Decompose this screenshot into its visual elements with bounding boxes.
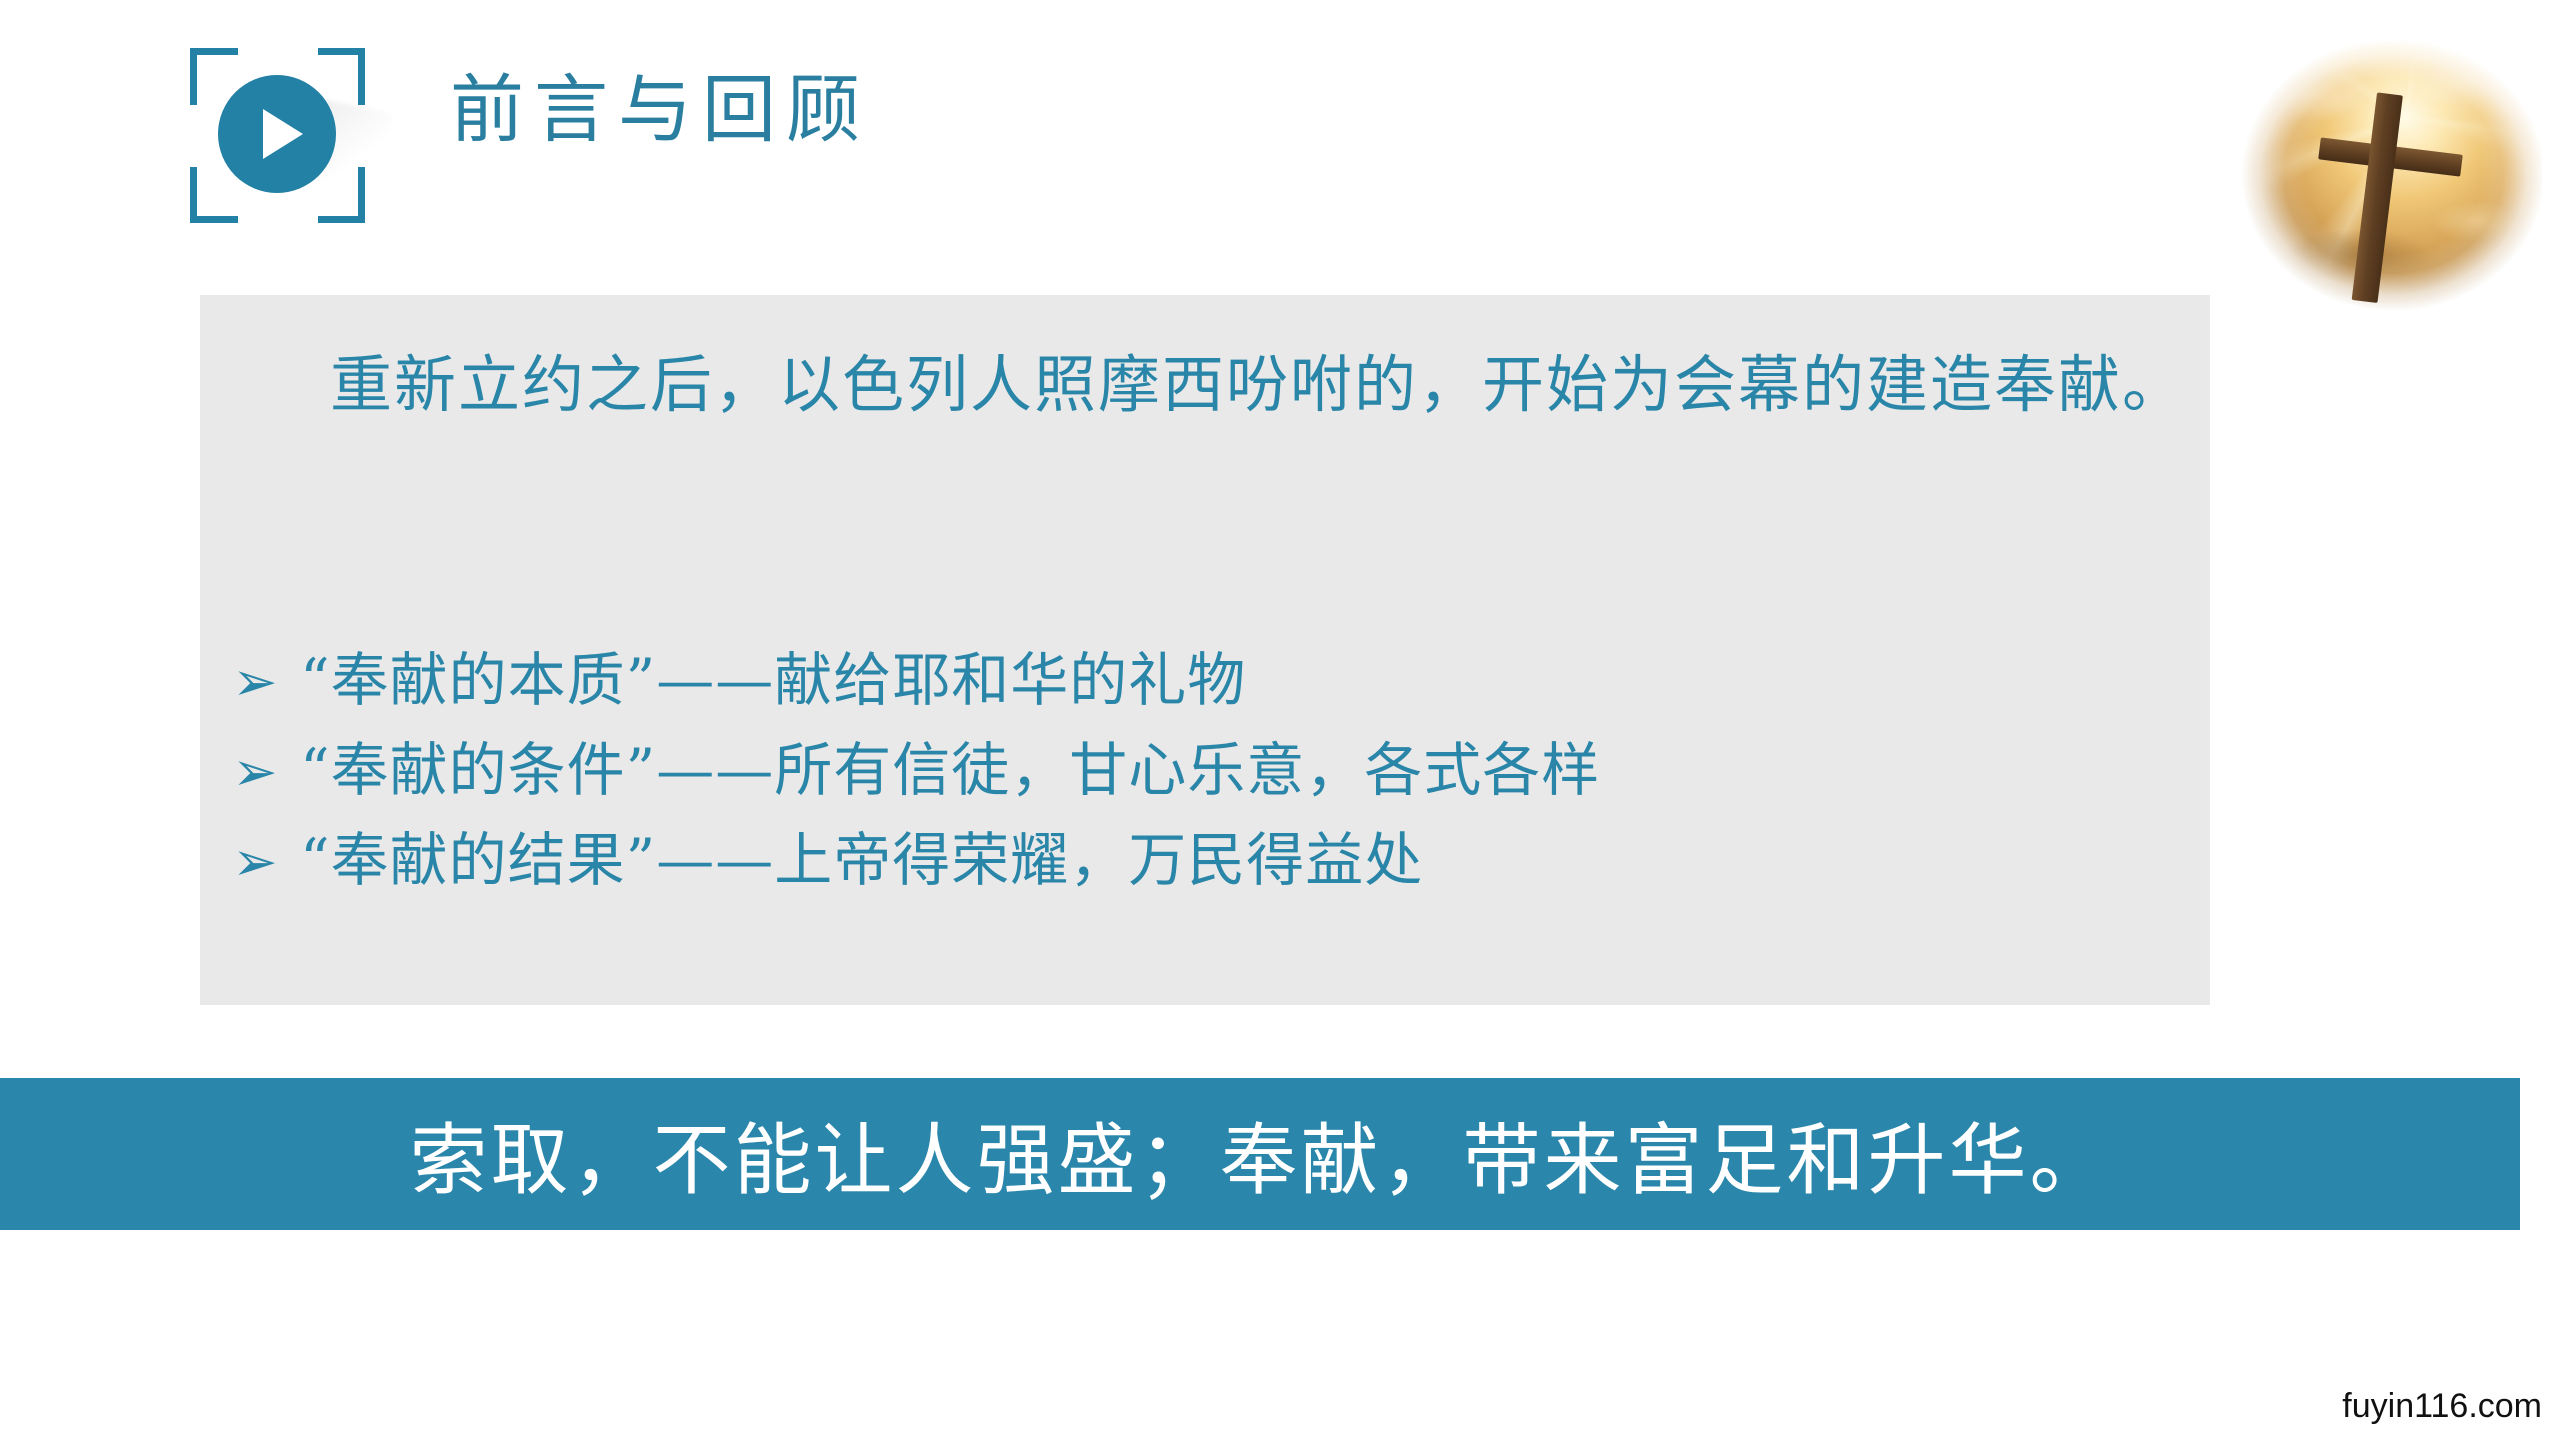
slide-title-row: 前言与回顾 bbox=[180, 30, 870, 190]
cross-photo bbox=[2232, 30, 2542, 320]
bottom-banner: 索取，不能让人强盛；奉献，带来富足和升华。 bbox=[0, 1078, 2520, 1230]
site-watermark: fuyin116.com bbox=[2342, 1387, 2542, 1426]
frame-notch-top bbox=[238, 41, 318, 57]
play-circle-icon bbox=[218, 75, 336, 193]
bullet-list: ➢ “奉献的本质”——献给耶和华的礼物 ➢ “奉献的条件”——所有信徒，甘心乐意… bbox=[210, 640, 2200, 910]
frame-notch-left bbox=[183, 105, 199, 167]
arrow-bullet-icon: ➢ bbox=[210, 735, 300, 810]
intro-paragraph: 重新立约之后，以色列人照摩西吩咐的，开始为会幕的建造奉献。 bbox=[210, 345, 2190, 424]
banner-text: 索取，不能让人强盛；奉献，带来富足和升华。 bbox=[409, 1098, 2110, 1210]
list-item: ➢ “奉献的本质”——献给耶和华的礼物 bbox=[210, 640, 2200, 720]
list-item: ➢ “奉献的结果”——上帝得荣耀，万民得益处 bbox=[210, 820, 2200, 900]
frame-notch-bottom bbox=[238, 214, 318, 230]
list-item: ➢ “奉献的条件”——所有信徒，甘心乐意，各式各样 bbox=[210, 730, 2200, 810]
content-panel: 重新立约之后，以色列人照摩西吩咐的，开始为会幕的建造奉献。 ➢ “奉献的本质”—… bbox=[200, 295, 2210, 1005]
page-title: 前言与回顾 bbox=[450, 73, 870, 147]
play-button-icon bbox=[180, 23, 380, 198]
list-item-label: “奉献的条件”——所有信徒，甘心乐意，各式各样 bbox=[300, 730, 1600, 810]
arrow-bullet-icon: ➢ bbox=[210, 825, 300, 900]
arrow-bullet-icon: ➢ bbox=[210, 645, 300, 720]
list-item-label: “奉献的结果”——上帝得荣耀，万民得益处 bbox=[300, 820, 1423, 900]
play-triangle-icon bbox=[263, 109, 303, 159]
list-item-label: “奉献的本质”——献给耶和华的礼物 bbox=[300, 640, 1246, 720]
